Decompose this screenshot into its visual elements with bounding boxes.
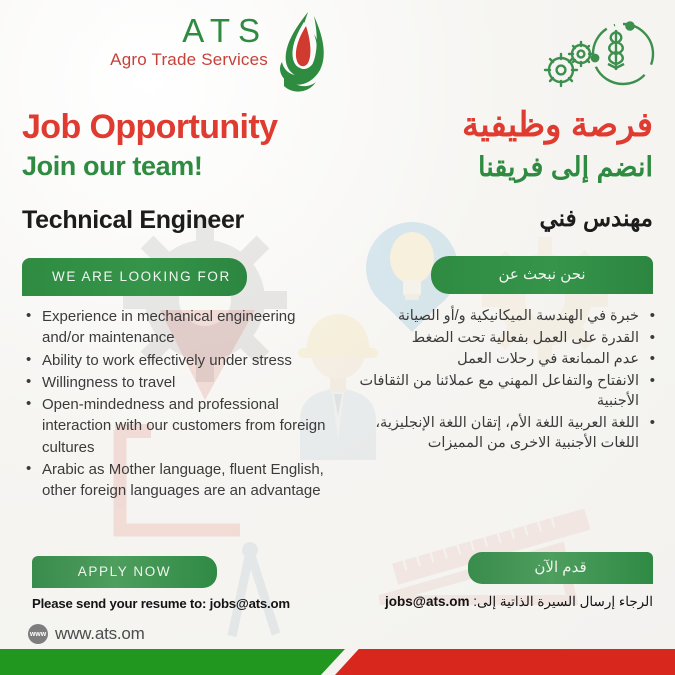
logo-text: ATS Agro Trade Services <box>110 14 268 70</box>
resume-instruction-ar-text: الرجاء إرسال السيرة الذاتية إلى: <box>473 594 653 609</box>
list-item: الانفتاح والتفاعل المهني مع عملائنا من ا… <box>343 371 655 412</box>
list-item: اللغة العربية اللغة الأم، إتقان اللغة ال… <box>343 413 655 454</box>
logo-company-name: Agro Trade Services <box>110 50 268 70</box>
list-item: خبرة في الهندسة الميكانيكية و/أو الصيانة <box>343 306 655 327</box>
page-title-en: Job Opportunity <box>22 110 277 144</box>
requirements-list-ar: خبرة في الهندسة الميكانيكية و/أو الصيانة… <box>343 306 655 455</box>
list-item: Ability to work effectively under stress <box>26 350 338 371</box>
resume-instruction-en: Please send your resume to: jobs@ats.om <box>32 596 290 611</box>
apply-now-button-ar[interactable]: قدم الآن <box>468 552 653 584</box>
website-url[interactable]: www.ats.om <box>55 624 145 644</box>
compass-illustration <box>232 542 276 636</box>
header-icons <box>527 12 657 107</box>
logo-flame-icon <box>262 10 330 101</box>
job-role-ar: مهندس فني <box>539 205 653 232</box>
page-subtitle-ar: انضم إلى فريقنا <box>478 150 653 185</box>
footer-stripe-green <box>0 649 345 675</box>
requirements-ar-items: خبرة في الهندسة الميكانيكية و/أو الصيانة… <box>343 306 655 454</box>
resume-instruction-ar: الرجاء إرسال السيرة الذاتية إلى: jobs@at… <box>385 594 653 610</box>
list-item: Open-mindedness and professional interac… <box>26 394 338 458</box>
wheat-circle-icon <box>592 22 653 84</box>
logo-initials: ATS <box>110 14 268 49</box>
page-subtitle-en: Join our team! <box>22 153 202 180</box>
resume-email-ar[interactable]: jobs@ats.om <box>385 594 469 609</box>
globe-icon: www <box>28 624 48 644</box>
footer-stripe-red <box>335 649 675 675</box>
list-item: القدرة على العمل بفعالية تحت الضغط <box>343 328 655 349</box>
job-role-en: Technical Engineer <box>22 206 244 235</box>
list-item: عدم الممانعة في رحلات العمل <box>343 349 655 370</box>
apply-now-button[interactable]: APPLY NOW <box>32 556 217 588</box>
list-item: Experience in mechanical engineering and… <box>26 306 338 349</box>
job-poster: ATS Agro Trade Services <box>0 0 675 675</box>
list-item: Arabic as Mother language, fluent Englis… <box>26 459 338 502</box>
badge-we-are-looking-for-ar: نحن نبحث عن <box>431 256 653 294</box>
list-item: Willingness to travel <box>26 372 338 393</box>
gears-icon <box>545 42 593 86</box>
badge-we-are-looking-for: WE ARE LOOKING FOR <box>22 258 247 296</box>
website-link[interactable]: www www.ats.om <box>28 624 145 644</box>
page-title-ar: فرصة وظيفية <box>462 104 653 147</box>
logo: ATS Agro Trade Services <box>0 8 340 100</box>
requirements-en-items: Experience in mechanical engineering and… <box>26 306 338 502</box>
requirements-list-en: Experience in mechanical engineering and… <box>26 306 338 503</box>
footer-stripes <box>0 649 675 675</box>
